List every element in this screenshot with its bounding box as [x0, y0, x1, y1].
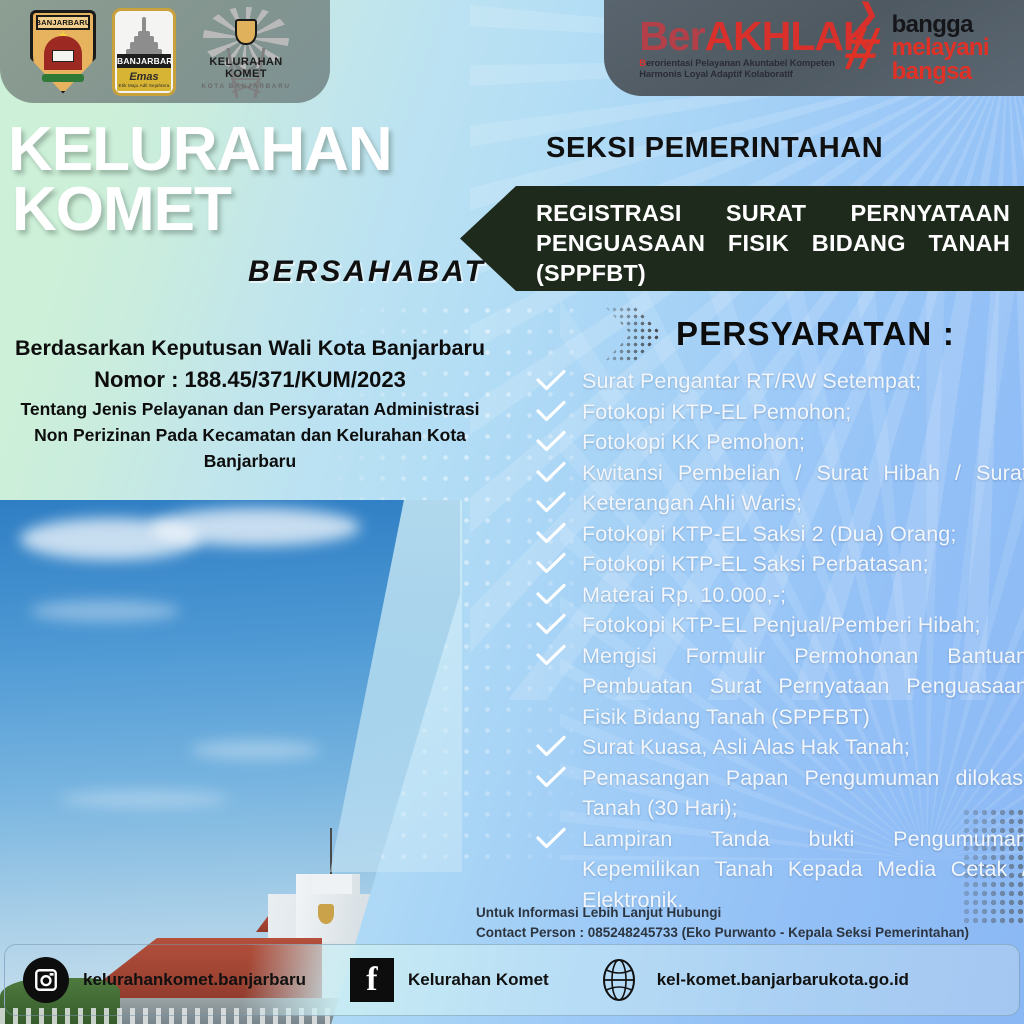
kelurahan-komet-logo-icon: KELURAHAN KOMET KOTA BANJARBARU — [192, 6, 300, 98]
requirement-item: Pemasangan Papan Pengumuman dilokasi — [536, 763, 1024, 794]
berakhlak-panel: BerAKHLAK ❯ Berorientasi Pelayanan Akunt… — [604, 0, 1024, 96]
requirement-text: Tanah (30 Hari); — [582, 793, 1024, 824]
regulation-line4: Non Perizinan Pada Kecamatan dan Kelurah… — [0, 422, 500, 448]
requirement-text: Fotokopi KTP-EL Penjual/Pemberi Hibah; — [582, 610, 1024, 641]
banner-line2: PENGUASAAN FISIK BIDANG TANAH — [536, 228, 1010, 258]
check-icon — [536, 369, 566, 393]
requirement-item: Fotokopi KTP-EL Saksi 2 (Dua) Orang; — [536, 519, 1024, 550]
poster-title-line1: KELURAHAN — [8, 120, 392, 180]
emas-tagline-label: Etik Maju Adil Sejahtera — [119, 83, 170, 88]
berakhlak-ber-label: Ber — [639, 13, 704, 59]
requirement-text: Surat Kuasa, Asli Alas Hak Tanah; — [582, 732, 1024, 763]
emas-name-label: BANJARBARU — [117, 54, 171, 68]
requirement-item: Surat Kuasa, Asli Alas Hak Tanah; — [536, 732, 1024, 763]
check-icon — [536, 400, 566, 424]
check-icon — [536, 552, 566, 576]
check-icon — [536, 583, 566, 607]
requirement-text: Surat Pengantar RT/RW Setempat; — [582, 366, 1024, 397]
banjarbaru-emas-logo-icon: BANJARBARU Emas Etik Maju Adil Sejahtera — [112, 8, 176, 96]
banner-line3: (SPPFBT) — [536, 258, 1010, 288]
requirements-heading: PERSYARATAN : — [676, 315, 955, 353]
requirements-heading-group: PERSYARATAN : — [604, 306, 955, 362]
footer-website[interactable]: kel-komet.banjarbarukota.go.id — [595, 956, 909, 1004]
check-icon — [536, 461, 566, 485]
instagram-icon[interactable] — [23, 957, 69, 1003]
footer-bar: kelurahankomet.banjarbaru f Kelurahan Ko… — [4, 944, 1020, 1016]
requirement-item: Pembuatan Surat Pernyataan Penguasaan — [536, 671, 1024, 702]
requirement-item: Mengisi Formulir Permohonan Bantuan — [536, 641, 1024, 672]
bangga-line2: melayani — [892, 36, 989, 59]
bangga-line1: bangga — [892, 13, 989, 36]
bangga-line3: bangsa — [892, 60, 989, 83]
section-heading: SEKSI PEMERINTAHAN — [546, 132, 883, 165]
check-icon — [536, 613, 566, 637]
regulation-line5: Banjarbaru — [0, 448, 500, 474]
check-icon — [536, 522, 566, 546]
check-icon — [536, 430, 566, 454]
requirement-item: Tanah (30 Hari); — [536, 793, 1024, 824]
requirement-item: Materai Rp. 10.000,-; — [536, 580, 1024, 611]
requirement-item: Fotokopi KTP-EL Pemohon; — [536, 397, 1024, 428]
requirement-text: Fisik Bidang Tanah (SPPFBT) — [582, 702, 1024, 733]
requirement-item: Fotokopi KK Pemohon; — [536, 427, 1024, 458]
poster-title-line2: KOMET — [8, 180, 392, 240]
footer-instagram[interactable]: kelurahankomet.banjarbaru — [23, 957, 306, 1003]
bangga-melayani-bangsa-logo: # bangga melayani bangsa — [886, 13, 989, 82]
requirement-text: Kwitansi Pembelian / Surat Hibah / Surat — [582, 458, 1024, 489]
banner-line1: REGISTRASI SURAT PERNYATAAN — [536, 198, 1010, 228]
service-title-banner: REGISTRASI SURAT PERNYATAANPENGUASAAN FI… — [460, 186, 1024, 291]
requirement-text: Keterangan Ahli Waris; — [582, 488, 1024, 519]
check-icon — [536, 766, 566, 790]
regulation-line1: Berdasarkan Keputusan Wali Kota Banjarba… — [0, 334, 500, 363]
regulation-line3: Tentang Jenis Pelayanan dan Persyaratan … — [0, 396, 500, 422]
banjarbaru-city-crest-icon: BANJARBARU ★ — [30, 10, 96, 94]
requirement-item: Surat Pengantar RT/RW Setempat; — [536, 366, 1024, 397]
website-url[interactable]: kel-komet.banjarbarukota.go.id — [657, 970, 909, 990]
komet-logo-subtitle: KOTA BANJARBARU — [192, 83, 300, 90]
contact-info: Untuk Informasi Lebih Lanjut Hubungi Con… — [476, 903, 969, 943]
facebook-icon[interactable]: f — [350, 958, 394, 1002]
requirement-item: Keterangan Ahli Waris; — [536, 488, 1024, 519]
requirement-text: Fotokopi KTP-EL Saksi Perbatasan; — [582, 549, 1024, 580]
requirement-text: Pemasangan Papan Pengumuman dilokasi — [582, 763, 1024, 794]
contact-line1: Untuk Informasi Lebih Lanjut Hubungi — [476, 903, 969, 923]
check-icon — [536, 735, 566, 759]
berakhlak-values-line2: Harmonis Loyal Adaptif Kolaboratif — [639, 68, 871, 79]
requirement-text: Fotokopi KTP-EL Saksi 2 (Dua) Orang; — [582, 519, 1024, 550]
contact-line2: Contact Person : 085248245733 (Eko Purwa… — [476, 923, 969, 943]
requirement-item: Kwitansi Pembelian / Surat Hibah / Surat — [536, 458, 1024, 489]
poster-tagline: BERSAHABAT — [248, 255, 486, 289]
requirement-text: Mengisi Formulir Permohonan Bantuan — [582, 641, 1024, 672]
globe-icon[interactable] — [595, 956, 643, 1004]
requirement-text: Lampiran Tanda bukti Pengumuman — [582, 824, 1024, 855]
check-icon — [536, 827, 566, 851]
requirement-item: Fotokopi KTP-EL Penjual/Pemberi Hibah; — [536, 610, 1024, 641]
requirement-text: Kepemilikan Tanah Kepada Media Cetak / — [582, 854, 1024, 885]
check-icon — [536, 644, 566, 668]
requirement-item: Kepemilikan Tanah Kepada Media Cetak / — [536, 854, 1024, 885]
requirement-item: Fotokopi KTP-EL Saksi Perbatasan; — [536, 549, 1024, 580]
regulation-reference: Berdasarkan Keputusan Wali Kota Banjarba… — [0, 334, 500, 475]
footer-facebook[interactable]: f Kelurahan Komet — [350, 958, 549, 1002]
check-icon — [536, 491, 566, 515]
requirement-text: Fotokopi KK Pemohon; — [582, 427, 1024, 458]
komet-logo-title: KELURAHAN KOMET — [192, 56, 300, 80]
requirement-text: Fotokopi KTP-EL Pemohon; — [582, 397, 1024, 428]
requirement-item: Lampiran Tanda bukti Pengumuman — [536, 824, 1024, 855]
poster-title: KELURAHAN KOMET — [8, 120, 392, 239]
halftone-chevron-icon — [604, 306, 662, 362]
requirement-text: Materai Rp. 10.000,-; — [582, 580, 1024, 611]
facebook-page-name[interactable]: Kelurahan Komet — [408, 970, 549, 990]
requirement-text: Pembuatan Surat Pernyataan Penguasaan — [582, 671, 1024, 702]
instagram-handle[interactable]: kelurahankomet.banjarbaru — [83, 970, 306, 990]
requirement-item: Fisik Bidang Tanah (SPPFBT) — [536, 702, 1024, 733]
emas-word-label: Emas — [129, 71, 158, 83]
berakhlak-logo: BerAKHLAK ❯ Berorientasi Pelayanan Akunt… — [639, 17, 871, 79]
regulation-line2: Nomor : 188.45/371/KUM/2023 — [0, 363, 500, 396]
requirements-list: Surat Pengantar RT/RW Setempat;Fotokopi … — [536, 366, 1024, 915]
logo-panel: BANJARBARU ★ BANJARBARU Emas Etik Maju A… — [0, 0, 330, 103]
